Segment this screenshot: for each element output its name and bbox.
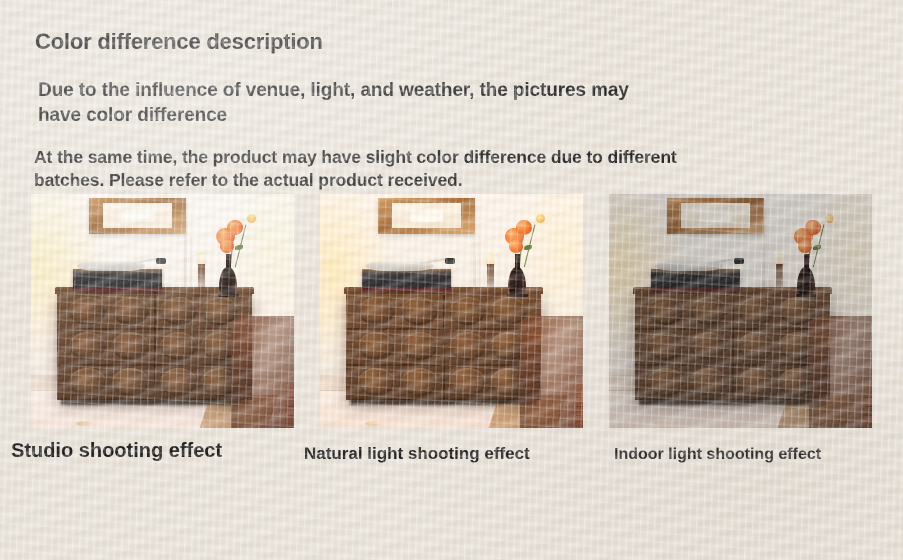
rug-speck [76,421,92,426]
leather-sofa [231,316,294,428]
candlestick-base [771,293,788,297]
room-scene [609,194,872,428]
dresser-base-shadow [61,399,248,405]
rug-speck [365,421,381,426]
drawer-knob [358,368,395,396]
drawer-knob [69,332,106,360]
frame-inner [392,203,460,228]
photo-caption-studio: Studio shooting effect [11,440,222,463]
drawer-knob [449,368,486,396]
drawer-knob [69,297,106,325]
drawer-knob [401,332,438,360]
candlestick [487,264,494,294]
flower-bloom [227,220,243,235]
drawer-knob [401,297,438,325]
product-photo-indoor-light [609,194,872,428]
drawer-knob [358,297,395,325]
frame-inner [681,203,749,228]
frame-mat [410,210,443,222]
drawer-knob [449,332,486,360]
drawer-knob [160,297,197,325]
dresser-row-line [635,328,830,330]
turntable-feet [656,291,735,296]
dresser-base-shadow [350,399,537,405]
leather-sofa [520,316,583,428]
sofa-crease [576,397,583,399]
note-paragraph: At the same time, the product may have s… [34,146,724,193]
drawer-knob [449,297,486,325]
frame-inner [103,203,171,228]
turntable-pivot [156,258,167,264]
candlestick-base [482,293,499,297]
dresser-base-shadow [639,399,826,405]
dresser-row-line [346,328,541,330]
room-scene [31,194,294,428]
candlestick-base [193,293,210,297]
turntable [73,269,162,291]
vase-foot [218,294,239,298]
drawer-knob [738,297,775,325]
drawer-knob [738,332,775,360]
sofa-crease [287,397,294,399]
drawer-knob [401,368,438,396]
rug-speck [654,421,670,426]
candlestick [776,264,783,294]
vase-foot [796,294,817,298]
photo-caption-natural-light: Natural light shooting effect [304,444,530,464]
dresser-split [732,292,734,400]
frame-mat [121,210,154,222]
framed-picture [378,198,475,234]
sofa-crease [576,406,583,408]
drawer-knob [647,297,684,325]
drawer-knob [647,368,684,396]
sofa-crease [576,415,583,417]
drawer-knob [112,368,149,396]
product-photo-natural-light [320,194,583,428]
flower-bloom [798,240,812,253]
sofa-crease [865,406,872,408]
frame-mat [699,210,732,222]
photo-caption-indoor-light: Indoor light shooting effect [614,446,821,464]
room-scene [320,194,583,428]
dresser-split [443,292,445,400]
drawer-knob [647,332,684,360]
sofa-crease [865,415,872,417]
framed-picture [89,198,186,234]
page-title: Color difference description [35,29,323,55]
drawer-knob [112,332,149,360]
intro-paragraph: Due to the influence of venue, light, an… [38,78,658,128]
drawer-knob [690,297,727,325]
candlestick [198,264,205,294]
turntable-pivot [734,258,745,264]
turntable [362,269,451,291]
turntable-feet [78,291,157,296]
drawer-knob [738,368,775,396]
flower-bloom [805,220,821,235]
dresser [57,292,252,400]
drawer-knob [69,368,106,396]
flower-bloom [509,240,523,253]
dresser-row-line [57,328,252,330]
sofa-crease [287,415,294,417]
flower-bloom [220,240,234,253]
turntable [651,269,740,291]
vase-foot [507,294,528,298]
turntable-pivot [445,258,456,264]
drawer-knob [112,297,149,325]
sofa-crease [287,406,294,408]
drawer-knob [690,332,727,360]
flower-bloom [516,220,532,235]
drawer-knob [160,332,197,360]
drawer-knob [690,368,727,396]
sofa-crease [865,397,872,399]
dresser [346,292,541,400]
dresser-split [154,292,156,400]
drawer-knob [358,332,395,360]
dresser [635,292,830,400]
framed-picture [667,198,764,234]
product-photo-studio [31,194,294,428]
drawer-knob [160,368,197,396]
turntable-feet [367,291,446,296]
leather-sofa [809,316,872,428]
